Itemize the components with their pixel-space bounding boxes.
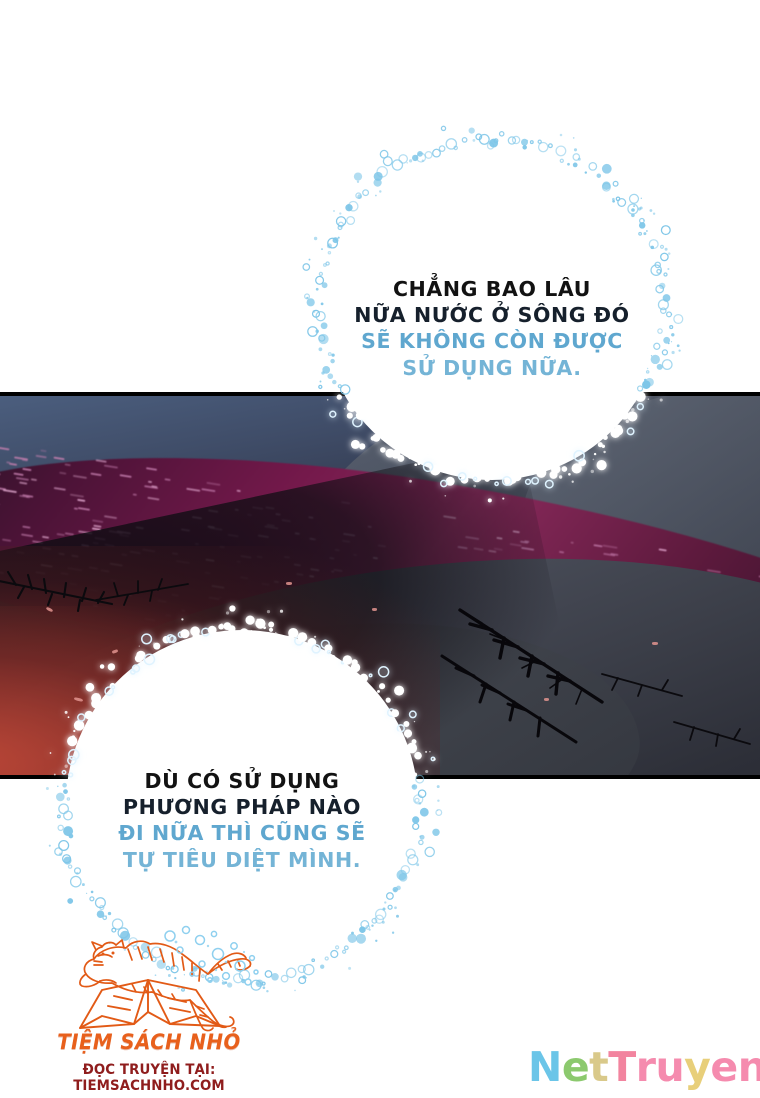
river-sparkle [54, 487, 66, 491]
ember-particle [372, 608, 377, 611]
river-sparkle [237, 490, 241, 493]
nettruyen-letter: e [710, 1043, 737, 1091]
river-sparkle [65, 463, 71, 466]
nettruyen-letter: u [655, 1043, 684, 1091]
river-sparkle [77, 499, 85, 502]
river-sparkle [90, 473, 101, 477]
river-sparkle [13, 472, 23, 476]
river-sparkle [74, 507, 78, 510]
nettruyen-letter: t [589, 1043, 608, 1091]
branch-silhouette [672, 714, 760, 754]
river-sparkle [164, 478, 170, 481]
river-sparkle [593, 544, 602, 547]
river-sparkle [104, 515, 117, 519]
nettruyen-letter: n [738, 1043, 760, 1091]
river-sparkle [201, 488, 215, 492]
nettruyen-letter: N [528, 1043, 562, 1091]
water-bubbles-decoration [156, 924, 266, 1014]
ember-particle [544, 698, 549, 701]
branch-silhouette [436, 654, 596, 754]
river-sparkle [31, 478, 37, 481]
bubble-line: ĐI NỮA THÌ CŨNG SẼ [66, 820, 418, 846]
river-sparkle [146, 467, 157, 471]
river-sparkle [59, 472, 66, 475]
ember-particle [652, 642, 658, 645]
branch-silhouette [598, 668, 694, 704]
river-sparkle [104, 465, 118, 469]
nettruyen-logo: NetTruyen [528, 1043, 760, 1091]
nettruyen-letter: T [608, 1043, 635, 1091]
river-sparkle [559, 551, 564, 554]
river-sparkle [57, 533, 65, 536]
river-sparkle [70, 494, 84, 498]
river-sparkle [19, 481, 27, 484]
river-sparkle [133, 493, 137, 496]
river-sparkle [22, 526, 30, 529]
river-sparkle [78, 507, 90, 511]
bubble-line: CHẲNG BAO LÂU [322, 276, 662, 302]
river-sparkle [120, 474, 132, 478]
river-sparkle [96, 459, 107, 463]
river-sparkle [148, 481, 152, 484]
bubble-line: TỰ TIÊU DIỆT MÌNH. [66, 847, 418, 873]
river-sparkle [16, 477, 29, 481]
bubble-line: NỮA NƯỚC Ở SÔNG ĐÓ [322, 302, 662, 328]
river-sparkle [92, 519, 103, 523]
river-sparkle [42, 536, 49, 539]
speech-bubble-top-text: CHẲNG BAO LÂU NỮA NƯỚC Ở SÔNG ĐÓ SẼ KHÔN… [322, 276, 662, 381]
river-sparkle [21, 533, 33, 537]
river-sparkle [3, 489, 17, 493]
river-sparkle [2, 538, 11, 541]
speech-bubble-bottom-text: DÙ CÓ SỬ DỤNG PHƯƠNG PHÁP NÀO ĐI NỮA THÌ… [66, 768, 418, 873]
bubble-line: SỬ DỤNG NỮA. [322, 355, 662, 381]
river-sparkle [659, 548, 667, 551]
river-sparkle [26, 496, 30, 499]
tiemsachnho-watermark [16, 928, 266, 1098]
bubble-line: PHƯƠNG PHÁP NÀO [66, 794, 418, 820]
comic-page: CHẲNG BAO LÂU NỮA NƯỚC Ở SÔNG ĐÓ SẼ KHÔN… [0, 0, 760, 1098]
river-sparkle [22, 468, 31, 471]
river-sparkle [602, 545, 617, 549]
speech-bubble-top: CHẲNG BAO LÂU NỮA NƯỚC Ở SÔNG ĐÓ SẼ KHÔN… [322, 142, 662, 480]
nettruyen-letter: r [636, 1043, 656, 1091]
nettruyen-letter: e [562, 1043, 589, 1091]
river-sparkle [571, 541, 574, 543]
river-sparkle [186, 488, 200, 492]
branch-silhouette [92, 574, 202, 614]
ember-particle [286, 582, 292, 585]
river-sparkle [73, 475, 87, 479]
nettruyen-letter: y [684, 1043, 710, 1091]
river-sparkle [147, 497, 159, 501]
bubble-line: DÙ CÓ SỬ DỤNG [66, 768, 418, 794]
river-sparkle [206, 482, 220, 486]
river-sparkle [6, 461, 10, 464]
bubble-line: SẼ KHÔNG CÒN ĐƯỢC [322, 328, 662, 354]
